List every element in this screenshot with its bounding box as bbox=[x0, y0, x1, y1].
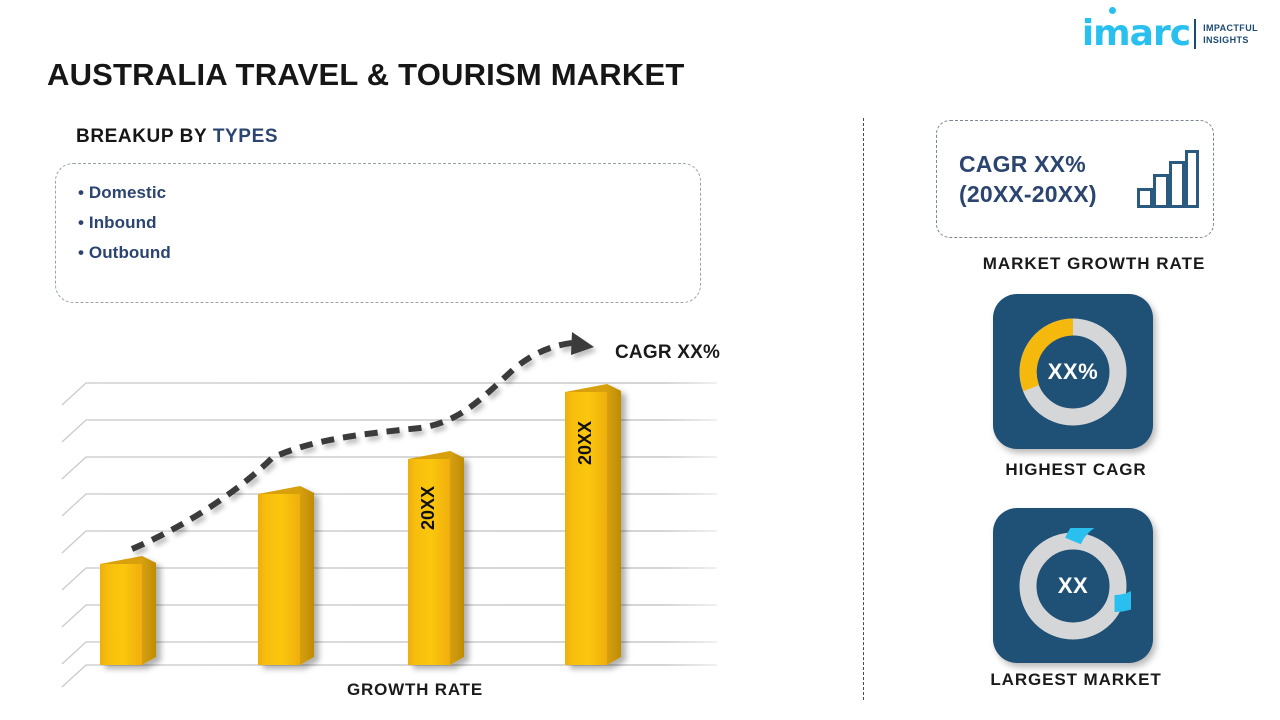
logo-wordmark: imarc bbox=[1082, 16, 1190, 52]
list-item: Outbound bbox=[78, 238, 700, 268]
highest-cagr-caption: HIGHEST CAGR bbox=[866, 460, 1280, 480]
breakup-heading: BREAKUP BY TYPES bbox=[76, 126, 278, 148]
cagr-card-text: CAGR XX% (20XX-20XX) bbox=[959, 149, 1097, 209]
chart-svg: 20XX 20XX bbox=[60, 330, 760, 705]
largest-market-caption: LARGEST MARKET bbox=[866, 670, 1280, 690]
largest-market-donut: XX bbox=[1015, 528, 1131, 644]
bar-2 bbox=[258, 486, 314, 665]
logo-tagline-line1: IMPACTFUL bbox=[1203, 22, 1258, 34]
page-title: AUSTRALIA TRAVEL & TOURISM MARKET bbox=[47, 57, 685, 93]
cagr-card-line2: (20XX-20XX) bbox=[959, 179, 1097, 209]
types-list: Domestic Inbound Outbound bbox=[56, 164, 700, 268]
bar-1 bbox=[100, 556, 156, 665]
list-item: Domestic bbox=[78, 178, 700, 208]
trend-line bbox=[132, 332, 594, 549]
breakup-heading-prefix: BREAKUP BY bbox=[76, 126, 213, 147]
highest-cagr-value: XX% bbox=[1015, 314, 1131, 430]
panel-divider bbox=[863, 118, 864, 700]
logo-tagline-line2: INSIGHTS bbox=[1203, 34, 1258, 46]
market-growth-rate-card: CAGR XX% (20XX-20XX) bbox=[936, 120, 1214, 238]
highest-cagr-donut: XX% bbox=[1015, 314, 1131, 430]
logo-dot-icon bbox=[1109, 7, 1116, 14]
largest-market-tile: XX bbox=[993, 508, 1153, 663]
logo-tagline: IMPACTFUL INSIGHTS bbox=[1203, 22, 1258, 46]
market-growth-rate-caption: MARKET GROWTH RATE bbox=[884, 254, 1280, 274]
cagr-callout-label: CAGR XX% bbox=[615, 342, 720, 364]
largest-market-value: XX bbox=[1015, 528, 1131, 644]
chart-x-axis-label: GROWTH RATE bbox=[347, 680, 483, 700]
cagr-card-line1: CAGR XX% bbox=[959, 149, 1097, 179]
bar-label-4: 20XX bbox=[575, 421, 595, 465]
list-item: Inbound bbox=[78, 208, 700, 238]
bar-label-3: 20XX bbox=[418, 486, 438, 530]
bar-chart-icon bbox=[1137, 150, 1199, 208]
logo-divider bbox=[1194, 19, 1196, 49]
breakup-heading-accent: TYPES bbox=[213, 126, 278, 147]
types-list-box: Domestic Inbound Outbound bbox=[55, 163, 701, 303]
highest-cagr-tile: XX% bbox=[993, 294, 1153, 449]
bar-3 bbox=[408, 451, 464, 665]
imarc-logo: imarc IMPACTFUL INSIGHTS bbox=[1082, 14, 1258, 54]
growth-rate-bar-chart: 20XX 20XX bbox=[60, 330, 760, 705]
